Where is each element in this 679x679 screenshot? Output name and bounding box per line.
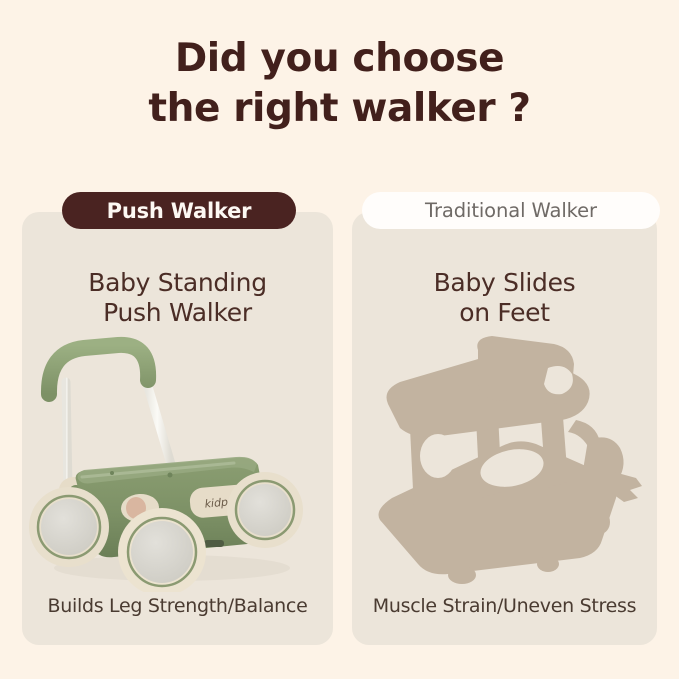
walker-rivet-1 [110, 471, 114, 475]
card-caption-traditional-walker: Muscle Strain/Uneven Stress [352, 595, 657, 617]
traditional-walker-image [352, 332, 657, 592]
traditional-walker-silhouette [379, 336, 643, 584]
comparison-card-traditional-walker: Baby Slides on Feet [352, 212, 657, 645]
card-title-line-2: on Feet [352, 298, 657, 328]
walker-wheel-front-hub [131, 521, 193, 583]
push-walker-image: kidpop [22, 332, 333, 592]
walker-wheel-back-left-hub [41, 499, 97, 555]
walker-axle-foot-right [204, 540, 224, 547]
tab-push-walker[interactable]: Push Walker [62, 192, 296, 229]
walker-wheel-back-right-hub [239, 484, 291, 536]
walker-pole-left [66, 382, 68, 488]
card-title-line-1: Baby Slides [352, 268, 657, 298]
tab-traditional-walker[interactable]: Traditional Walker [362, 192, 660, 229]
comparison-card-push-walker: Baby Standing Push Walker [22, 212, 333, 645]
tab-traditional-walker-label: Traditional Walker [425, 199, 597, 222]
comparison-section: Baby Standing Push Walker [0, 0, 679, 679]
walker-pole-right [146, 380, 171, 464]
card-title-push-walker: Baby Standing Push Walker [22, 268, 333, 328]
tab-push-walker-label: Push Walker [107, 199, 252, 223]
card-title-traditional-walker: Baby Slides on Feet [352, 268, 657, 328]
card-title-line-2: Push Walker [22, 298, 333, 328]
card-title-line-1: Baby Standing [22, 268, 333, 298]
walker-rivet-2 [168, 473, 173, 478]
card-caption-push-walker: Builds Leg Strength/Balance [22, 595, 333, 617]
